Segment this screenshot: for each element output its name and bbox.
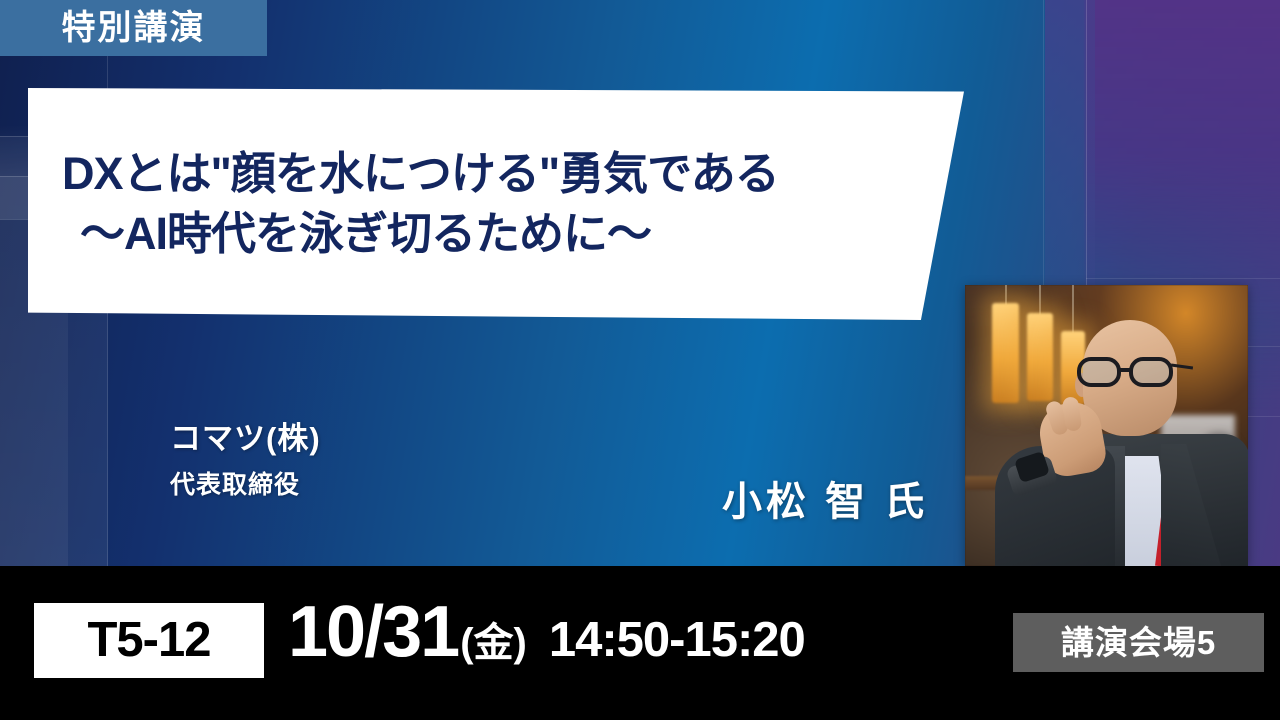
speaker-company: コマツ(株) [170, 420, 321, 457]
session-datetime: 10/31 (金) 14:50-15:20 [288, 596, 805, 668]
venue-badge: 講演会場5 [1013, 613, 1264, 672]
session-slate: 特別講演 DXとは"顔を水につける"勇気である 〜AI時代を泳ぎ切るために〜 コ… [0, 0, 1280, 720]
lamp-rod-icon [1005, 285, 1007, 305]
session-code-text: T5-12 [87, 616, 210, 665]
session-day-of-week: (金) [460, 623, 527, 663]
glasses-bridge [1119, 368, 1133, 372]
glasses-icon [1073, 357, 1181, 387]
glasses-lens-right [1129, 357, 1173, 387]
pendant-lamp-icon [992, 303, 1019, 403]
session-code-badge: T5-12 [34, 603, 264, 678]
speaker-photo [965, 285, 1248, 566]
title-panel: DXとは"顔を水につける"勇気である 〜AI時代を泳ぎ切るために〜 [28, 88, 964, 320]
background-horizontal-line-4 [1086, 278, 1280, 279]
speaker-name: 小松 智 氏 [722, 482, 928, 522]
glasses-lens-left [1077, 357, 1121, 387]
session-date: 10/31 [288, 596, 458, 668]
category-badge: 特別講演 [0, 0, 267, 56]
session-time-range: 14:50-15:20 [549, 616, 805, 665]
lamp-rod-icon [1072, 285, 1074, 333]
title-line-2: 〜AI時代を泳ぎ切るために〜 [62, 204, 964, 264]
footer-bar: T5-12 10/31 (金) 14:50-15:20 講演会場5 [0, 566, 1280, 720]
pendant-lamp-icon [1027, 313, 1053, 401]
title-line-1: DXとは"顔を水につける"勇気である [62, 144, 964, 204]
speaker-role: 代表取締役 [170, 470, 300, 500]
lamp-rod-icon [1039, 285, 1041, 315]
